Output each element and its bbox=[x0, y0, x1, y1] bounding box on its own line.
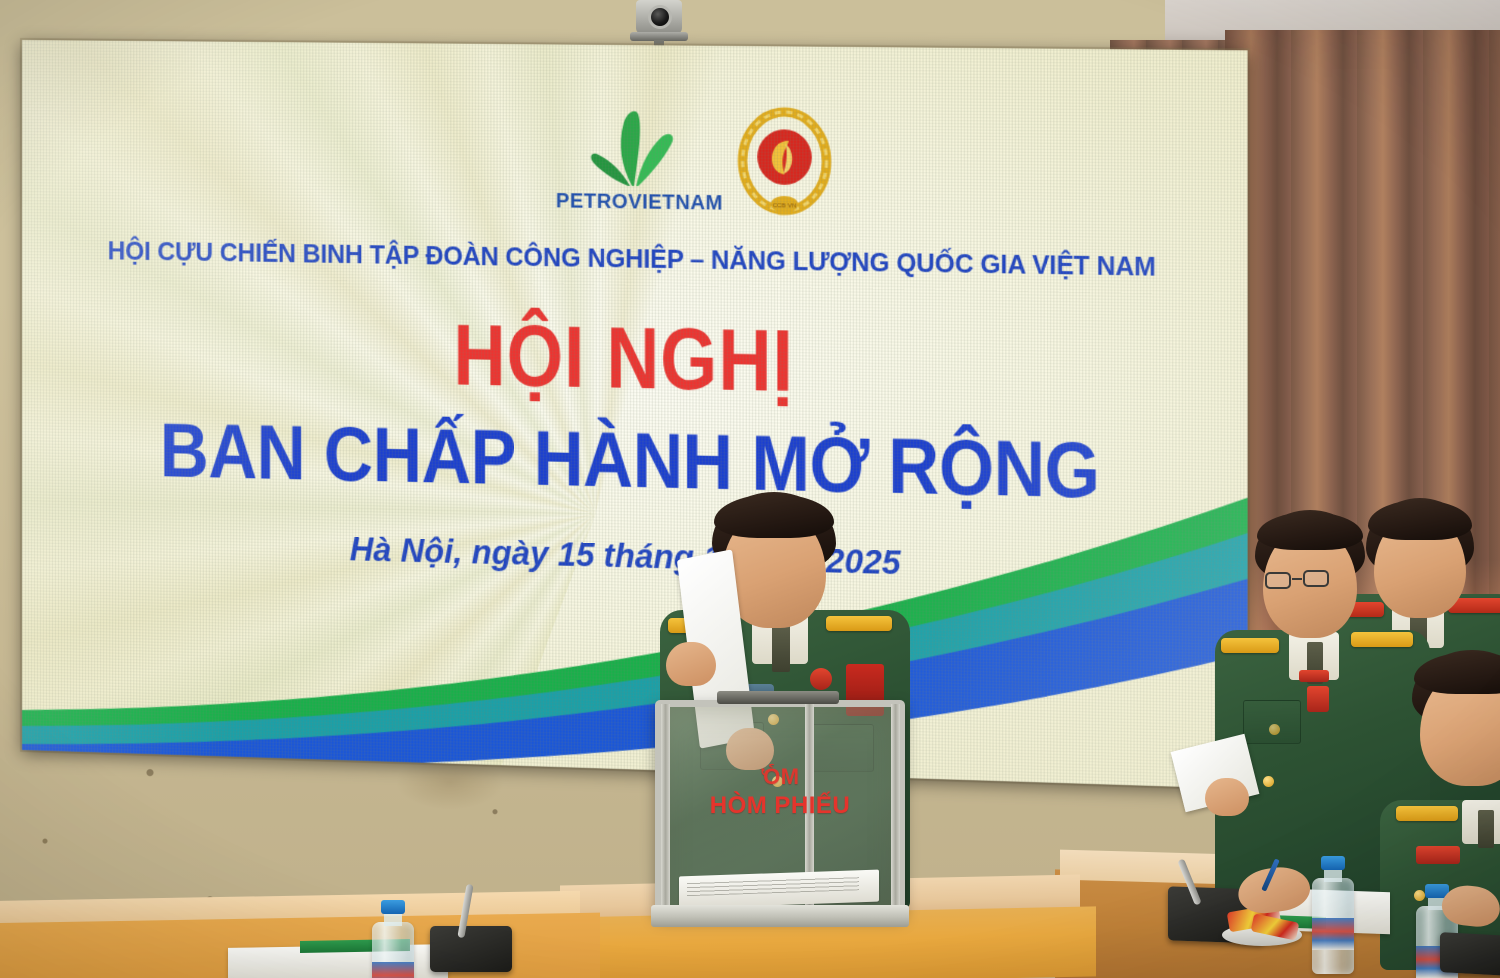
officer-right-front-pocket bbox=[1243, 700, 1301, 744]
officer-right-front-ribbon bbox=[1299, 670, 1329, 682]
officer-center-chest-badge bbox=[810, 668, 832, 690]
ballot-box-slot bbox=[717, 691, 839, 704]
ballot-box: MỞ HÒM PHIẾU bbox=[655, 700, 905, 915]
microphone-base-left bbox=[430, 926, 512, 972]
officer-seated-ribbon-bar bbox=[1416, 846, 1460, 864]
officer-seated-button-1 bbox=[1414, 890, 1425, 901]
ballot-box-base bbox=[651, 905, 909, 927]
ballot-box-label: MỞ HÒM PHIẾU bbox=[655, 764, 905, 820]
officer-right-front-hair-top bbox=[1257, 512, 1363, 550]
petrovietnam-flame-icon bbox=[586, 108, 680, 189]
water-bottle-center-right-label bbox=[1312, 918, 1354, 950]
petrovietnam-wordmark: PETROVIETNAM bbox=[556, 189, 711, 216]
officer-center-hair-top bbox=[714, 494, 834, 538]
officer-seated-hair-top bbox=[1414, 652, 1500, 694]
ceiling-ptz-camera bbox=[628, 0, 690, 48]
officer-right-front-medal-star bbox=[1307, 686, 1329, 712]
officer-center-tie bbox=[772, 624, 790, 672]
officer-right-front-glasses-left bbox=[1265, 572, 1291, 589]
banner-swoosh-ribbons bbox=[22, 460, 1248, 789]
water-bottle-left-cap bbox=[381, 900, 405, 914]
conference-scene: PETROVIETNAM CCB VN HỘI CỰU CHIẾN BINH T… bbox=[0, 0, 1500, 978]
svg-text:CCB VN: CCB VN bbox=[773, 203, 797, 209]
water-bottle-left-label bbox=[372, 962, 414, 978]
led-banner-screen: PETROVIETNAM CCB VN HỘI CỰU CHIẾN BINH T… bbox=[22, 40, 1248, 789]
officer-seated-shoulder bbox=[1396, 806, 1458, 821]
water-bottle-center-right-cap bbox=[1321, 856, 1345, 870]
banner-logo-row: PETROVIETNAM CCB VN bbox=[22, 102, 1248, 240]
officer-center-shoulder-right bbox=[826, 616, 892, 631]
officer-seated-tie bbox=[1478, 810, 1494, 848]
camera-lens-icon bbox=[648, 5, 672, 29]
officer-right-front-hand bbox=[1205, 778, 1249, 816]
officer-right-front-glasses-right bbox=[1303, 570, 1329, 587]
officer-right-front-shoulder-right bbox=[1351, 632, 1413, 647]
officer-right-front-glasses-bridge bbox=[1292, 578, 1302, 580]
ballot-box-label-main: HÒM PHIẾU bbox=[710, 792, 851, 819]
officer-center-hand-left bbox=[666, 642, 716, 686]
veterans-association-emblem-icon: CCB VN bbox=[734, 105, 835, 221]
officer-right-front-shoulder-left bbox=[1221, 638, 1279, 653]
microphone-base-far-right bbox=[1440, 932, 1500, 976]
petrovietnam-logo: PETROVIETNAM bbox=[550, 108, 716, 216]
officer-right-front-button-2 bbox=[1263, 776, 1274, 787]
ballot-box-label-mirrored: MỞ bbox=[655, 764, 905, 791]
